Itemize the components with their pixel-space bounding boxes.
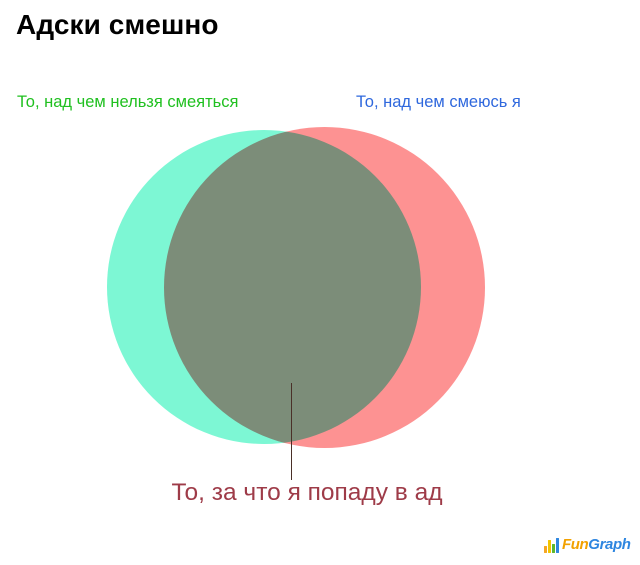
intersection-leader-line xyxy=(291,383,292,480)
venn-diagram-canvas: Адски смешно То, над чем нельзя смеяться… xyxy=(0,0,640,565)
fungraph-logo-text-part1: Fun xyxy=(562,536,588,553)
fungraph-logo-text-part2: Graph xyxy=(588,536,630,553)
venn-circle-right xyxy=(164,127,485,448)
bar-chart-icon xyxy=(544,538,559,553)
fungraph-logo-text: FunGraph xyxy=(562,537,630,552)
set-label-intersection: То, за что я попаду в ад xyxy=(0,479,614,507)
fungraph-watermark: FunGraph xyxy=(544,531,630,553)
